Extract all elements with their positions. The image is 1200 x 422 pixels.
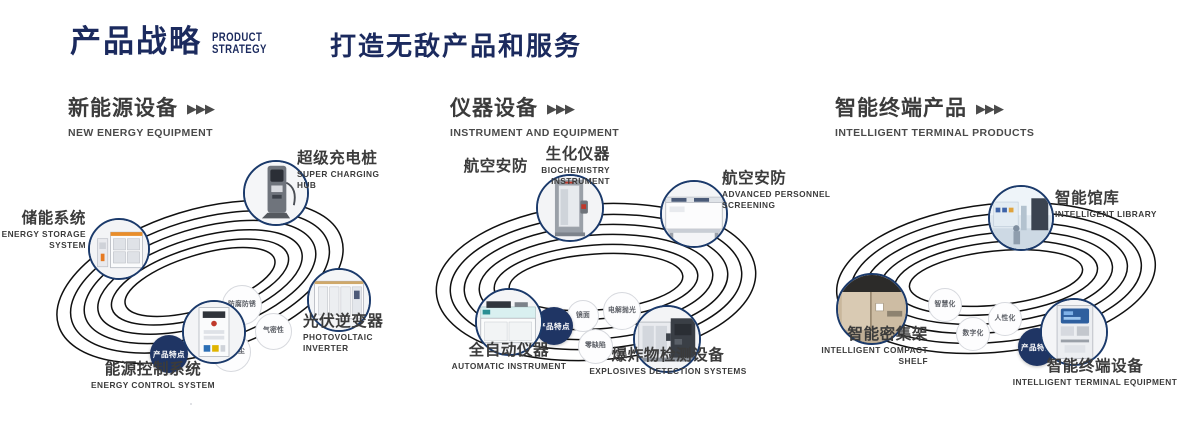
energy-storage-cabinet-icon [90,220,148,278]
chevron-right-icon: ▶▶▶ [547,101,574,117]
label-explosives-detection: 爆炸物检测设备 EXPLOSIVES DETECTION SYSTEMS [588,347,748,377]
feature-bubble-d: 气密性 [255,313,292,350]
label-en: PHOTOVOLTAIC INVERTER [303,332,400,353]
page-title-cn: 产品战略 [70,26,202,57]
label-energy-control-system: 能源控制系统 ENERGY CONTROL SYSTEM [78,361,228,391]
page-title-en: PRODUCT STRATEGY [212,31,267,55]
screening-machine-icon [662,182,726,246]
label-cn: 储能系统 [0,210,86,227]
label-cn: 智能密集架 [758,326,928,343]
label-automatic-instrument: 全自动仪器 AUTOMATIC INSTRUMENT [434,342,584,372]
feature-label: 智慧化 [935,301,956,310]
terminal-kiosk-icon [1042,300,1106,364]
chevron-right-icon: ▶▶▶ [187,101,214,117]
feature-label: 人性化 [995,315,1016,324]
control-cabinet-icon [184,302,244,362]
section-heading-instrument: 仪器设备▶▶▶ INSTRUMENT AND EQUIPMENT [450,98,619,139]
feature-bubble-a: 智慧化 [928,288,962,322]
feature-bubble-c: 人性化 [988,302,1022,336]
section-heading-en: NEW ENERGY EQUIPMENT [68,127,214,139]
cluster-instrument: 镜面 电解抛光 钣金与机械工结合 零缺陷 产品特点 [400,150,800,415]
label-cn: 生化仪器 [420,146,610,163]
label-en: ENERGY STORAGE SYSTEM [0,229,86,250]
label-en: BIOCHEMISTRY INSTRUMENT [500,165,610,186]
label-en: INTELLIGENT LIBRARY [1055,209,1157,219]
cluster-new-energy: 户外 防腐防锈 防水防尘 气密性 产品特点 [0,150,400,415]
node-advanced-personnel-screening[interactable] [660,180,728,248]
label-en: ENERGY CONTROL SYSTEM [78,380,228,390]
label-cn: 光伏逆变器 [303,313,400,330]
section-heading-new-energy: 新能源设备▶▶▶ NEW ENERGY EQUIPMENT [68,98,214,139]
page-title-en-line2: STRATEGY [212,43,267,55]
feature-label: 镜面 [576,312,590,321]
label-intelligent-terminal-equipment: 智能终端设备 INTELLIGENT TERMINAL EQUIPMENT [1000,358,1190,388]
section-heading-en: INSTRUMENT AND EQUIPMENT [450,127,619,139]
page-title: 产品战略 PRODUCT STRATEGY [70,26,280,57]
feature-label: 数字化 [963,330,984,339]
label-intelligent-compact-shelf: 智能密集架 INTELLIGENT COMPACT SHELF [758,326,928,366]
label-en: INTELLIGENT TERMINAL EQUIPMENT [1000,377,1190,387]
label-cn: 全自动仪器 [434,342,584,359]
label-cn: 智能终端设备 [1000,358,1190,375]
node-intelligent-terminal-equipment[interactable] [1040,298,1108,366]
feature-bubble-b: 数字化 [956,317,990,351]
core-bubble-label: 产品特点 [153,350,185,359]
label-cn: 智能馆库 [1055,190,1157,207]
section-heading-cn: 仪器设备 [450,98,538,119]
section-heading-intelligent-terminal: 智能终端产品▶▶▶ INTELLIGENT TERMINAL PRODUCTS [835,98,1034,139]
label-en: INTELLIGENT COMPACT SHELF [814,345,928,366]
label-en: EXPLOSIVES DETECTION SYSTEMS [588,366,748,376]
chevron-right-icon: ▶▶▶ [976,101,1003,117]
node-energy-control-system[interactable] [182,300,246,364]
section-heading-cn: 智能终端产品 [835,98,967,119]
feature-label: 气密性 [263,327,284,336]
product-strategy-infographic: 产品战略 PRODUCT STRATEGY 打造无敌产品和服务 新能源设备▶▶▶… [0,0,1200,422]
section-heading-cn: 新能源设备 [68,98,178,119]
cluster-intelligent-terminal: 智慧化 数字化 人性化 产品特点 [800,150,1200,415]
smart-library-icon [990,187,1052,249]
node-intelligent-library[interactable] [988,185,1054,251]
label-en: AUTOMATIC INSTRUMENT [434,361,584,371]
feature-label: 电解抛光 [608,307,636,316]
label-cn: 能源控制系统 [78,361,228,378]
label-photovoltaic-inverter: 光伏逆变器 PHOTOVOLTAIC INVERTER [303,313,400,353]
label-energy-storage: 储能系统 ENERGY STORAGE SYSTEM [0,210,86,250]
label-biochemistry-instrument: 生化仪器 BIOCHEMISTRY INSTRUMENT [420,146,610,186]
node-energy-storage[interactable] [88,218,150,280]
label-intelligent-library: 智能馆库 INTELLIGENT LIBRARY [1055,190,1157,220]
section-heading-en: INTELLIGENT TERMINAL PRODUCTS [835,127,1034,139]
label-cn: 爆炸物检测设备 [588,347,748,364]
page-subtitle: 打造无敌产品和服务 [330,33,582,59]
